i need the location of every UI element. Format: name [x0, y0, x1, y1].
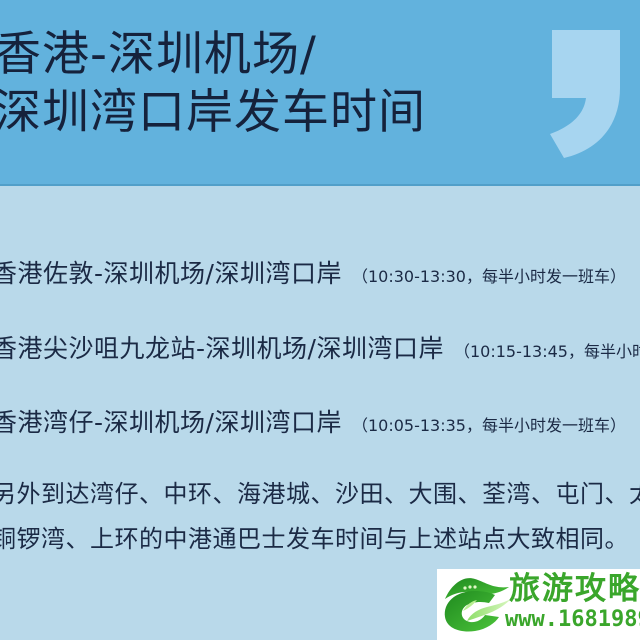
watermark-url: www.1681989.cn — [505, 607, 640, 633]
route-name: 香港佐敦-深圳机场/深圳湾口岸 — [0, 259, 342, 288]
page-title: 香港-深圳机场/ 深圳湾口岸发车时间 — [0, 26, 560, 142]
route-schedule: （10:30-13:30，每半小时发一班车） — [352, 267, 626, 286]
note-block: 另外到达湾仔、中环、海港城、沙田、大围、荃湾、屯门、太子、 铜锣湾、上环的中港通… — [0, 472, 640, 562]
route-schedule: （10:15-13:45，每半小时发一班车） — [454, 342, 640, 361]
mountain-river-g-logo-icon — [441, 573, 513, 633]
route-item: 香港佐敦-深圳机场/深圳湾口岸（10:30-13:30，每半小时发一班车） — [0, 254, 640, 290]
route-item: 香港尖沙咀九龙站-深圳机场/深圳湾口岸（10:15-13:45，每半小时发一班车… — [0, 329, 640, 365]
header-band: 香港-深圳机场/ 深圳湾口岸发车时间 — [0, 0, 640, 186]
watermark-inner: 旅游攻略 www.1681989.cn — [437, 569, 640, 640]
page-title-line-2: 深圳湾口岸发车时间 — [0, 84, 560, 142]
route-schedule: （10:05-13:35，每半小时发一班车） — [352, 416, 626, 435]
watermark-brand: 旅游攻略 — [509, 572, 640, 606]
note-line-1: 另外到达湾仔、中环、海港城、沙田、大围、荃湾、屯门、太子、 — [0, 472, 640, 517]
route-name: 香港湾仔-深圳机场/深圳湾口岸 — [0, 408, 342, 437]
page-title-line-1: 香港-深圳机场/ — [0, 26, 560, 84]
route-name: 香港尖沙咀九龙站-深圳机场/深圳湾口岸 — [0, 334, 444, 363]
watermark: 旅游攻略 www.1681989.cn — [437, 569, 640, 640]
note-line-2: 铜锣湾、上环的中港通巴士发车时间与上述站点大致相同。 — [0, 517, 640, 562]
route-item: 香港湾仔-深圳机场/深圳湾口岸（10:05-13:35，每半小时发一班车） — [0, 403, 640, 439]
poster-image: 香港-深圳机场/ 深圳湾口岸发车时间 香港佐敦-深圳机场/深圳湾口岸（10:30… — [0, 0, 640, 640]
